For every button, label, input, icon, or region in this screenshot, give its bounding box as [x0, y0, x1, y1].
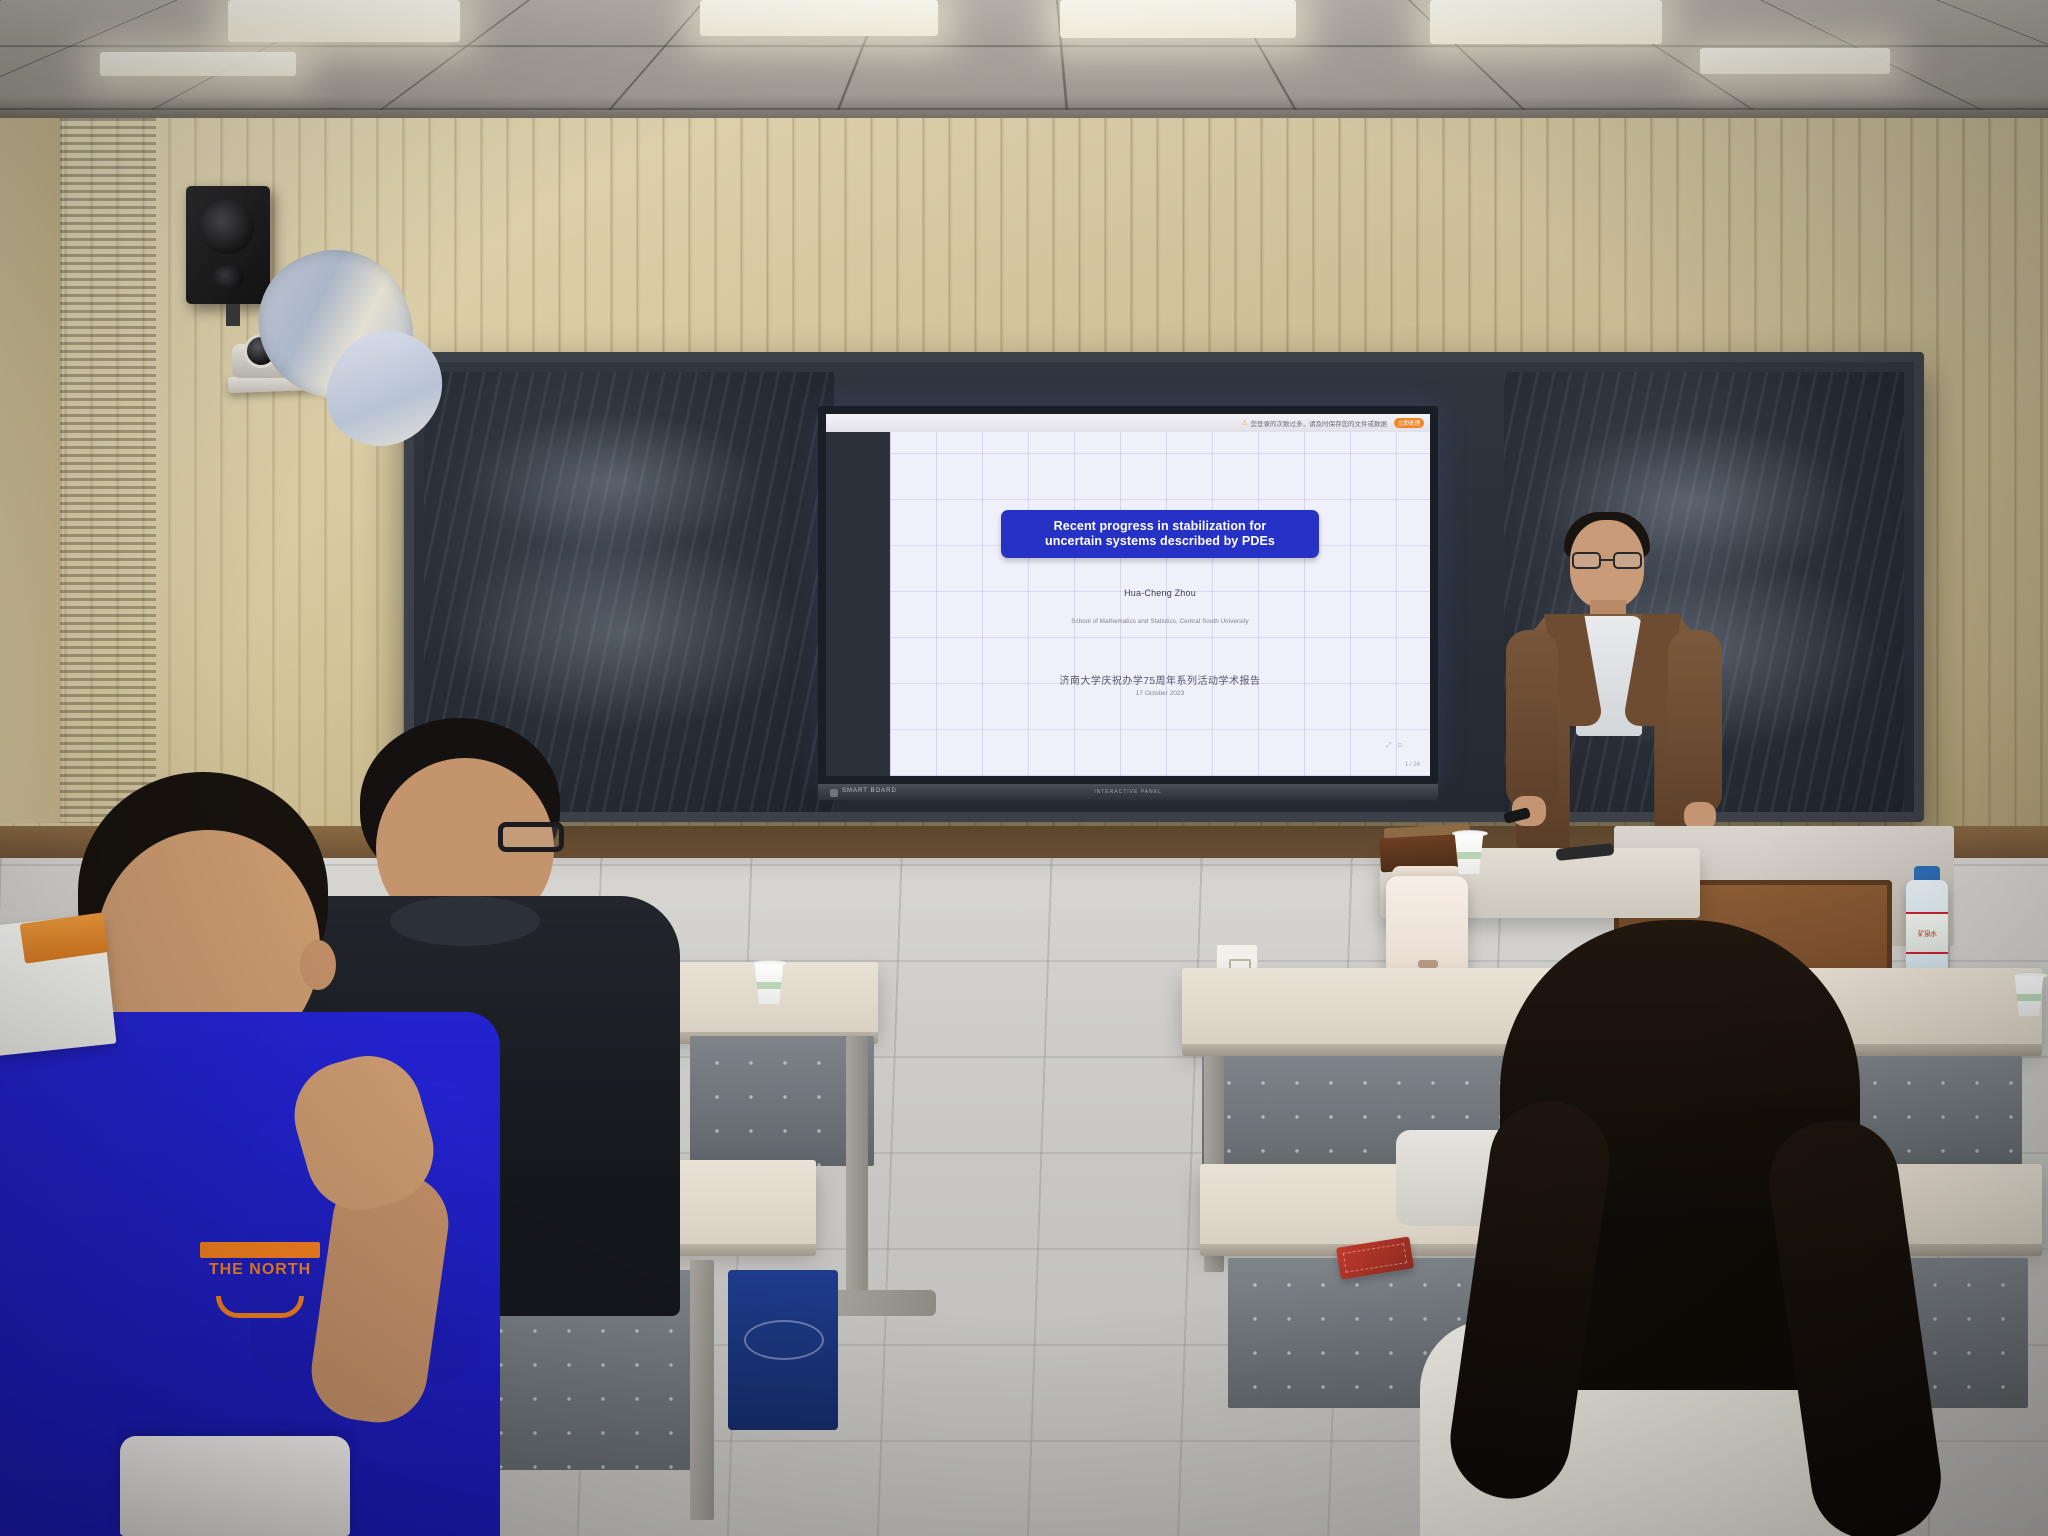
slide-grid-background [890, 432, 1430, 776]
slide-app-topbar: ⚠ 您登录的次数过多，请及时保存您的文件或数据 立即处理 [826, 414, 1430, 432]
slide-title-line1: Recent progress in stabilization for [1011, 519, 1309, 534]
student-blue-shirt: THE NORTH [0, 772, 600, 1536]
presenter-standing [1498, 510, 1728, 850]
eyeglasses-icon [1572, 552, 1642, 569]
chalk-smudge [464, 412, 764, 552]
presenter-arm-right [1668, 630, 1722, 816]
slide-page-indicator: 1 / 24 [1405, 762, 1420, 768]
student-ear [300, 940, 336, 990]
student-long-hair [1440, 920, 1940, 1536]
warning-triangle-icon: ⚠ [1241, 419, 1247, 427]
slide-title-box: Recent progress in stabilization for unc… [1001, 510, 1319, 558]
interactive-smart-display[interactable]: ⚠ 您登录的次数过多，请及时保存您的文件或数据 立即处理 Recent prog… [818, 406, 1438, 784]
display-screen[interactable]: ⚠ 您登录的次数过多，请及时保存您的文件或数据 立即处理 Recent prog… [826, 414, 1430, 776]
wall-side-panel [0, 118, 62, 823]
speaker-bracket [226, 304, 240, 326]
lens-left [1572, 552, 1601, 569]
logo-bar [200, 1242, 320, 1258]
wall-speaker-icon [186, 186, 270, 304]
desk-leg [846, 1036, 868, 1306]
presenter-arm-left [1506, 630, 1558, 810]
slide-author: Hua-Cheng Zhou [890, 588, 1430, 598]
ceiling-light [1700, 48, 1890, 74]
chair-back-foreground[interactable] [120, 1436, 350, 1536]
slide-view-controls[interactable]: ⤢ ⊡ [1386, 742, 1404, 750]
ceiling-light [228, 0, 460, 42]
power-indicator-icon [830, 789, 838, 797]
glasses-bridge [1601, 559, 1613, 561]
north-face-logo-icon: THE NORTH [200, 1242, 320, 1316]
dark-wood-column [60, 118, 156, 823]
display-brand: SMART BOARD [842, 788, 897, 794]
ceiling-light [700, 0, 938, 36]
display-model: INTERACTIVE PANEL [1094, 789, 1161, 795]
slide-canvas[interactable]: Recent progress in stabilization for unc… [890, 432, 1430, 776]
slide-title-line2: uncertain systems described by PDEs [1011, 534, 1309, 549]
ceiling-light [100, 52, 296, 76]
slide-date: 17 October 2023 [890, 690, 1430, 697]
kettle-button[interactable] [1418, 960, 1438, 968]
desk-leg [690, 1260, 714, 1520]
tote-bag-logo [744, 1320, 824, 1360]
topbar-action-button[interactable]: 立即处理 [1394, 418, 1424, 428]
topbar-notice: ⚠ 您登录的次数过多，请及时保存您的文件或数据 立即处理 [1241, 418, 1424, 428]
ceiling-light [1430, 0, 1662, 44]
slide-affiliation: School of Mathematics and Statistics, Ce… [890, 618, 1430, 625]
chalk-smudge [444, 532, 804, 732]
classroom-scene: ⚠ 您登录的次数过多，请及时保存您的文件或数据 立即处理 Recent prog… [0, 0, 2048, 1536]
speaker-cone [200, 200, 254, 254]
lens-right [1613, 552, 1642, 569]
ceiling-light [1060, 0, 1296, 38]
logo-text: THE NORTH [200, 1262, 320, 1278]
speaker-tweeter [212, 266, 244, 290]
slide-event-title: 济南大学庆祝办学75周年系列活动学术报告 [890, 672, 1430, 687]
logo-arc [216, 1296, 304, 1318]
slide-thumbnail-sidebar[interactable] [826, 432, 890, 776]
topbar-notice-text: 您登录的次数过多，请及时保存您的文件或数据 [1250, 418, 1387, 428]
display-bottom-bezel: SMART BOARD INTERACTIVE PANEL [818, 784, 1438, 800]
